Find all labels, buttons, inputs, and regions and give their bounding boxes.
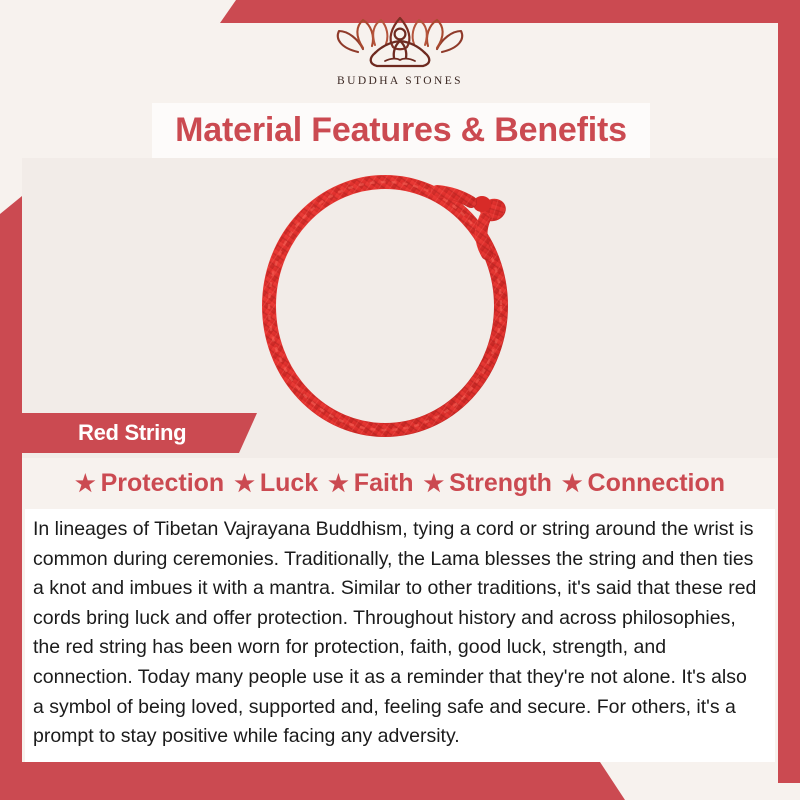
brand-header: BUDDHA STONES <box>0 0 800 104</box>
material-ribbon: Red String <box>22 413 257 453</box>
benefit-item-luck: ★ Luck <box>229 469 323 498</box>
star-icon: ★ <box>234 472 255 495</box>
benefit-item-connection: ★ Connection <box>557 469 730 498</box>
star-icon: ★ <box>328 472 349 495</box>
page-title: Material Features & Benefits <box>175 111 627 150</box>
star-icon: ★ <box>562 472 583 495</box>
infographic-page: BUDDHA STONES Material Features & Benefi… <box>0 0 800 800</box>
lotus-meditation-icon <box>325 12 475 74</box>
benefit-label: Protection <box>101 469 225 498</box>
benefit-label: Faith <box>354 469 414 498</box>
benefit-item-protection: ★ Protection <box>70 469 229 498</box>
description-panel: In lineages of Tibetan Vajrayana Buddhis… <box>25 509 775 762</box>
material-name: Red String <box>78 420 186 446</box>
decor-band-bottom <box>0 762 800 800</box>
benefit-label: Strength <box>449 469 552 498</box>
star-icon: ★ <box>424 472 445 495</box>
brand-logo: BUDDHA STONES <box>305 12 495 87</box>
title-banner: Material Features & Benefits <box>152 103 650 158</box>
benefit-item-faith: ★ Faith <box>323 469 418 498</box>
benefit-label: Luck <box>260 469 318 498</box>
benefit-label: Connection <box>588 469 726 498</box>
red-braided-string-bracelet-icon <box>235 166 565 446</box>
star-icon: ★ <box>75 472 96 495</box>
benefit-item-strength: ★ Strength <box>419 469 557 498</box>
decor-band-left <box>0 196 22 800</box>
benefit-list: ★ Protection ★ Luck ★ Faith ★ Strength ★… <box>22 462 778 504</box>
description-text: In lineages of Tibetan Vajrayana Buddhis… <box>25 513 775 752</box>
brand-name: BUDDHA STONES <box>305 75 495 87</box>
decor-band-right <box>778 23 800 783</box>
